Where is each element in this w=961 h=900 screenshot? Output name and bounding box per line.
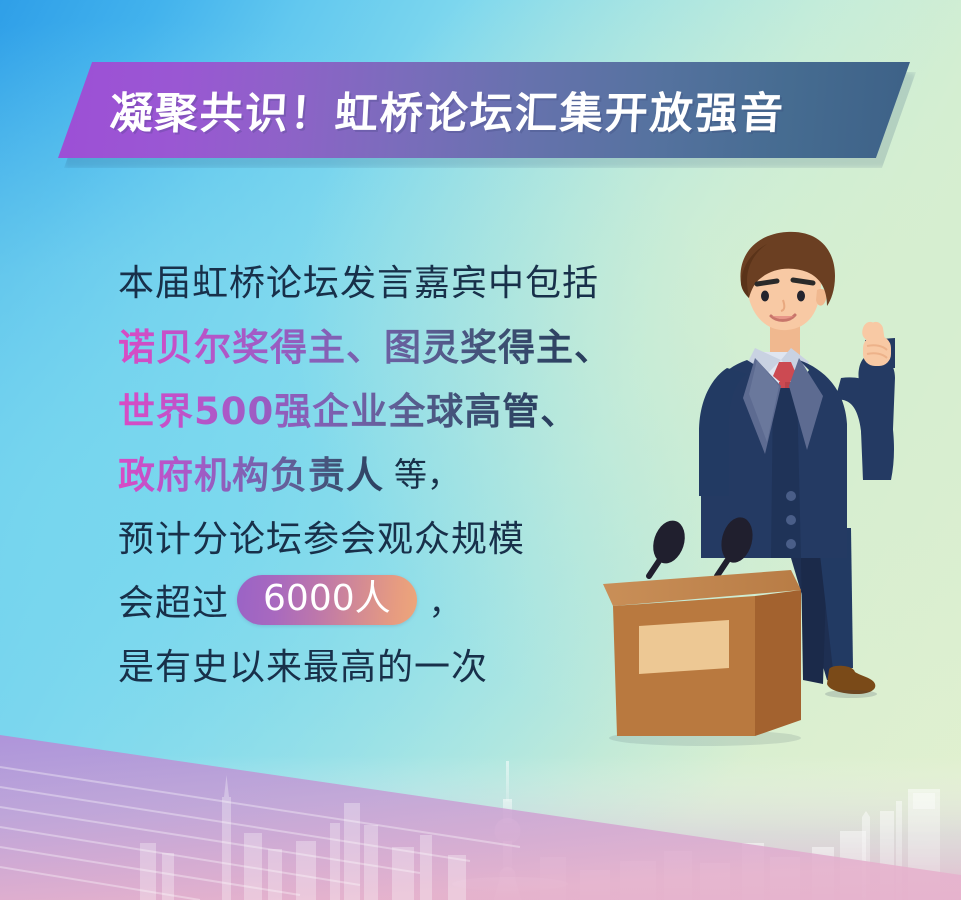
- line5-text: 预计分论坛参会观众规模: [118, 510, 525, 562]
- line4-accent-text: 政府机构负责人: [118, 445, 384, 499]
- button: [786, 539, 796, 549]
- microphone-left: [648, 516, 690, 576]
- text-line-1: 本届虹桥论坛发言嘉宾中包括: [118, 248, 638, 312]
- eyebrow-right: [793, 280, 813, 283]
- eyebrow-left: [757, 281, 777, 284]
- title-banner: 凝聚共识！虹桥论坛汇集开放强音: [58, 62, 910, 166]
- button: [786, 515, 796, 525]
- text-line-5: 预计分论坛参会观众规模: [118, 504, 638, 568]
- line3-accent-text: 世界500强企业全球高管: [118, 381, 540, 435]
- pointing-hand: [862, 322, 891, 366]
- line1-text: 本届虹桥论坛发言嘉宾中包括: [118, 254, 599, 306]
- text-line-2: 诺贝尔奖得主、图灵奖得主、: [118, 312, 638, 376]
- text-line-3: 世界500强企业全球高管、: [118, 376, 638, 440]
- body-text-block: 本届虹桥论坛发言嘉宾中包括 诺贝尔奖得主、图灵奖得主、 世界500强企业全球高管…: [118, 248, 638, 696]
- text-line-4: 政府机构负责人等，: [118, 440, 638, 504]
- page-title: 凝聚共识！虹桥论坛汇集开放强音: [108, 79, 786, 141]
- line4-suffix: 等，: [394, 448, 460, 496]
- head: [740, 232, 835, 330]
- banner-shape: 凝聚共识！虹桥论坛汇集开放强音: [58, 62, 910, 158]
- shoe: [825, 666, 877, 698]
- podium-side: [755, 590, 801, 736]
- highlight-pill-6000: 6000人: [237, 575, 417, 625]
- button: [786, 491, 796, 501]
- podium-panel: [639, 620, 729, 674]
- infographic-canvas: 凝聚共识！虹桥论坛汇集开放强音 本届虹桥论坛发言嘉宾中包括 诺贝尔奖得主、图灵奖…: [0, 0, 961, 900]
- line6-prefix: 会超过: [118, 574, 229, 626]
- line6-comma: ，: [429, 576, 462, 624]
- line3-tail: 、: [540, 381, 577, 435]
- eye-right: [797, 291, 805, 302]
- text-line-7: 是有史以来最高的一次: [118, 632, 638, 696]
- line2-accent-text: 诺贝尔奖得主、图灵奖得主: [118, 317, 574, 371]
- podium: [603, 570, 801, 746]
- suit-jacket: [699, 358, 847, 558]
- text-line-6: 会超过6000人，: [118, 568, 638, 632]
- eye-left: [761, 291, 769, 302]
- speaker-illustration: [595, 228, 961, 748]
- line7-text: 是有史以来最高的一次: [118, 638, 488, 690]
